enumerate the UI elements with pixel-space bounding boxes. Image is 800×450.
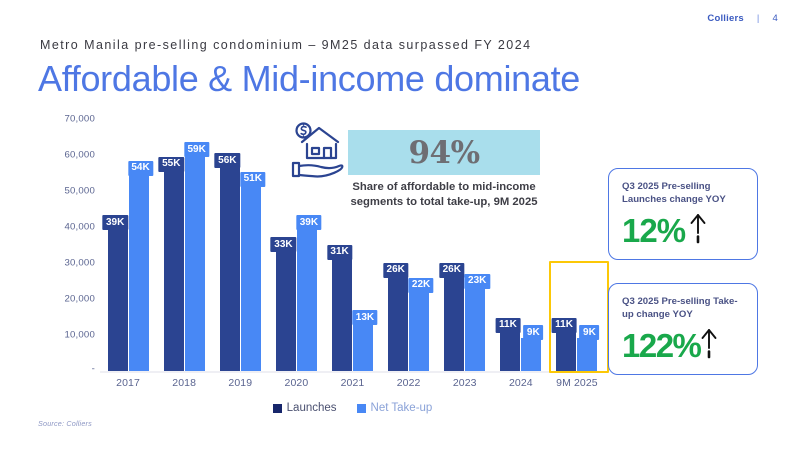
y-tick: 30,000 (64, 258, 95, 269)
bar-net-take-up[interactable]: 9K (521, 338, 541, 371)
bar-group: 11K9K (549, 115, 605, 371)
kpi-caption: Q3 2025 Pre-selling Take-up change YOY (622, 296, 747, 322)
bar-net-take-up[interactable]: 51K (241, 185, 261, 372)
bar-value-label: 26K (383, 263, 408, 278)
chart-legend: Launches Net Take-up (100, 402, 605, 414)
stat-value: 94% (408, 135, 479, 171)
bar-value-label: 13K (352, 310, 377, 325)
x-tick: 2022 (381, 377, 437, 389)
y-tick-zero: - (92, 364, 95, 375)
bar-launches[interactable]: 11K (556, 331, 576, 371)
brand-divider: | (757, 13, 760, 24)
bar-launches[interactable]: 11K (500, 331, 520, 371)
bar-group: 55K59K (156, 115, 212, 371)
legend-item-net-take-up[interactable]: Net Take-up (357, 402, 433, 414)
kpi-card-take-up-yoy[interactable]: Q3 2025 Pre-selling Take-up change YOY 1… (608, 283, 758, 375)
legend-label-net-take-up: Net Take-up (371, 402, 433, 414)
bar-launches[interactable]: 26K (388, 276, 408, 371)
slide: Colliers | 4 Metro Manila pre-selling co… (0, 0, 800, 450)
stat-band: 94% (348, 130, 540, 175)
bar-value-label: 23K (465, 274, 490, 289)
bar-value-label: 54K (128, 161, 153, 176)
bar-launches[interactable]: 26K (444, 276, 464, 371)
legend-item-launches[interactable]: Launches (273, 402, 337, 414)
bar-value-label: 33K (271, 237, 296, 252)
x-tick: 2023 (437, 377, 493, 389)
bar-value-label: 22K (408, 278, 433, 293)
bar-net-take-up[interactable]: 13K (353, 323, 373, 371)
arrow-up-icon (700, 326, 718, 365)
bar-value-label: 39K (296, 215, 321, 230)
brand-header: Colliers | 4 (707, 13, 778, 24)
y-tick: 50,000 (64, 186, 95, 197)
x-tick: 2024 (493, 377, 549, 389)
kpi-value-row: 122% (622, 326, 749, 365)
bar-launches[interactable]: 56K (220, 166, 240, 371)
legend-label-launches: Launches (287, 402, 337, 414)
kpi-caption: Q3 2025 Pre-selling Launches change YOY (622, 181, 747, 207)
x-tick: 2018 (156, 377, 212, 389)
slide-kicker: Metro Manila pre-selling condominium – 9… (40, 38, 532, 52)
legend-swatch-net-take-up-icon (357, 404, 366, 413)
page-number: 4 (773, 13, 778, 24)
bar-value-label: 9K (580, 325, 600, 340)
x-tick: 2019 (212, 377, 268, 389)
stat-caption: Share of affordable to mid-income segmen… (348, 180, 540, 211)
bar-net-take-up[interactable]: 54K (129, 174, 149, 371)
bar-launches[interactable]: 39K (108, 228, 128, 371)
bar-value-label: 39K (102, 215, 127, 230)
kpi-value-row: 12% (622, 211, 749, 250)
bar-value-label: 51K (240, 172, 265, 187)
bar-value-label: 31K (327, 245, 352, 260)
bar-value-label: 26K (439, 263, 464, 278)
page-title: Affordable & Mid-income dominate (38, 57, 580, 100)
bar-launches[interactable]: 31K (332, 258, 352, 371)
legend-swatch-launches-icon (273, 404, 282, 413)
kpi-value: 12% (622, 214, 685, 247)
y-tick: 40,000 (64, 222, 95, 233)
y-tick: 70,000 (64, 114, 95, 125)
x-axis: 201720182019202020212022202320249M 2025 (100, 377, 605, 389)
y-tick: 20,000 (64, 294, 95, 305)
bar-launches[interactable]: 33K (276, 250, 296, 371)
x-tick: 9M 2025 (549, 377, 605, 389)
x-tick: 2020 (268, 377, 324, 389)
bar-value-label: 59K (184, 142, 209, 157)
bar-value-label: 55K (159, 157, 184, 172)
x-tick: 2021 (324, 377, 380, 389)
brand-name: Colliers (707, 13, 743, 24)
arrow-up-icon (689, 211, 707, 250)
house-with-money-in-hand-icon (286, 120, 348, 184)
kpi-card-launches-yoy[interactable]: Q3 2025 Pre-selling Launches change YOY … (608, 168, 758, 260)
bar-net-take-up[interactable]: 23K (465, 287, 485, 371)
bar-net-take-up[interactable]: 9K (577, 338, 597, 371)
bar-group: 56K51K (212, 115, 268, 371)
bar-value-label: 11K (552, 318, 577, 333)
y-tick: 60,000 (64, 150, 95, 161)
x-tick: 2017 (100, 377, 156, 389)
source-note: Source: Colliers (38, 419, 92, 428)
kpi-value: 122% (622, 329, 700, 362)
bar-net-take-up[interactable]: 59K (185, 155, 205, 371)
bar-value-label: 56K (215, 153, 240, 168)
bar-net-take-up[interactable]: 39K (297, 228, 317, 371)
bar-net-take-up[interactable]: 22K (409, 291, 429, 371)
y-tick: 10,000 (64, 330, 95, 341)
y-axis: 70,000 60,000 50,000 40,000 30,000 20,00… (40, 115, 95, 373)
axis-baseline (100, 371, 605, 373)
bar-group: 39K54K (100, 115, 156, 371)
bar-value-label: 9K (523, 325, 543, 340)
bar-value-label: 11K (496, 318, 521, 333)
bar-launches[interactable]: 55K (164, 170, 184, 371)
